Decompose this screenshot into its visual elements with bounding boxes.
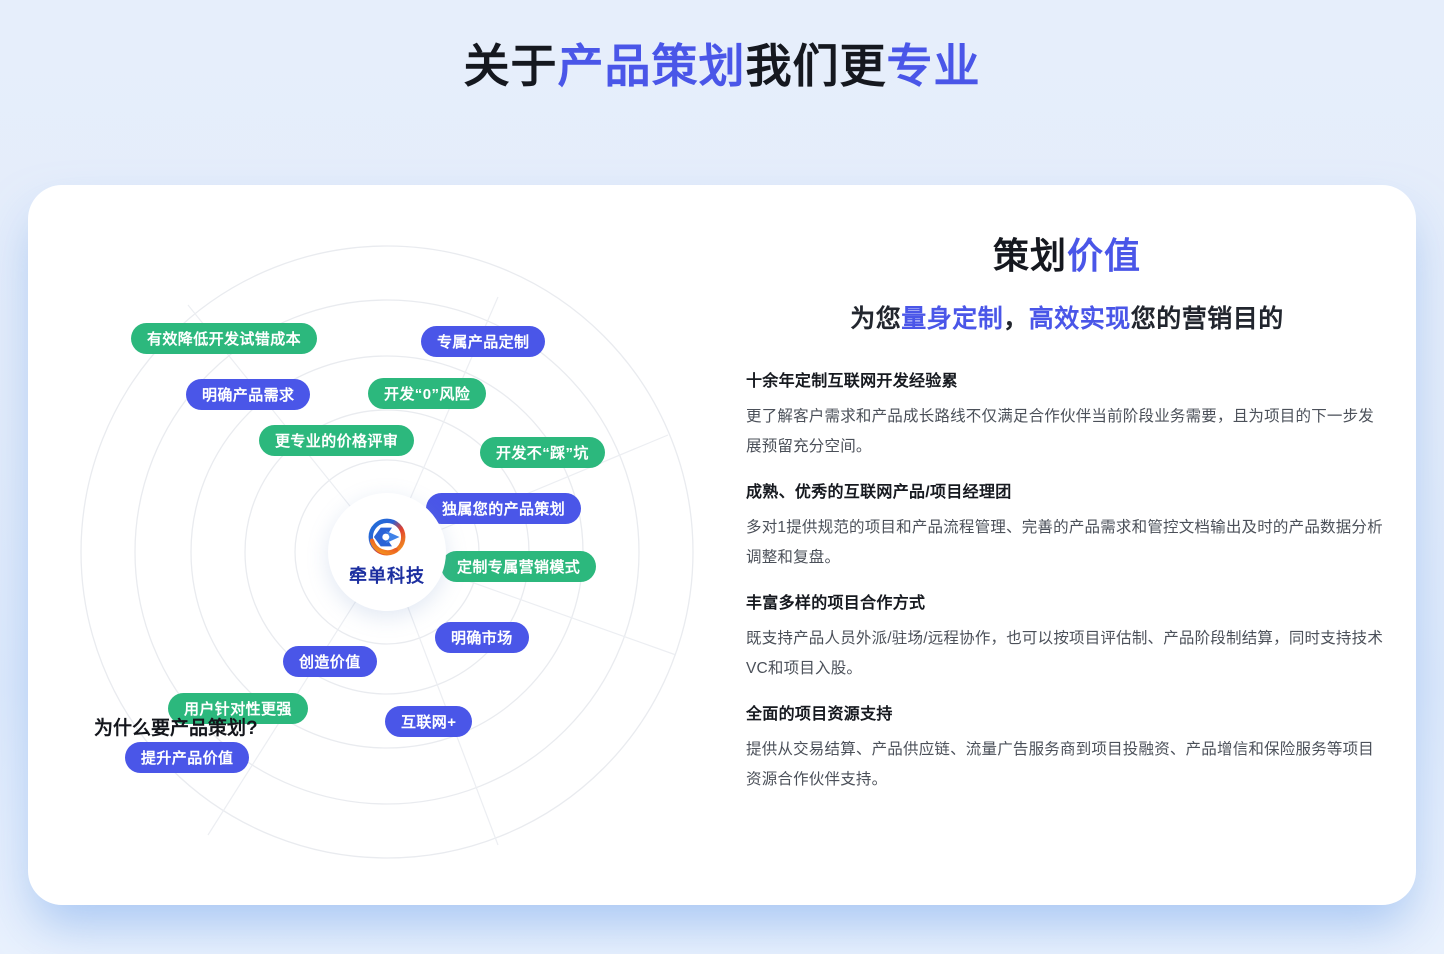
why-planning-label: 为什么要产品策划? — [94, 713, 258, 740]
diagram-tag[interactable]: 互联网+ — [385, 706, 472, 737]
planning-value-panel: 策划价值 为您量身定制，高效实现您的营销目的 十余年定制互联网开发经验累更了解客… — [718, 185, 1416, 905]
brand-hub: 牵单科技 — [328, 493, 446, 611]
value-title: 策划价值 — [746, 227, 1388, 279]
value-section-body: 既支持产品人员外派/驻场/远程协作，也可以按项目评估制、产品阶段制结算，同时支持… — [746, 624, 1388, 684]
diagram-tag[interactable]: 独属您的产品策划 — [426, 493, 581, 524]
value-section-heading: 丰富多样的项目合作方式 — [746, 593, 1388, 615]
radial-diagram: 为什么要产品策划? — [28, 185, 718, 905]
value-subtitle: 为您量身定制，高效实现您的营销目的 — [746, 299, 1388, 335]
page-title-part-3: 专业 — [887, 40, 981, 92]
value-title-part-0: 策划 — [993, 235, 1067, 276]
value-sections: 十余年定制互联网开发经验累更了解客户需求和产品成长路线不仅满足合作伙伴当前阶段业… — [746, 371, 1388, 795]
diagram-tag[interactable]: 定制专属营销模式 — [441, 551, 596, 582]
value-subtitle-part-4: 您的营销目的 — [1131, 305, 1284, 333]
diagram-tag[interactable]: 专属产品定制 — [421, 326, 545, 357]
content-card: 为什么要产品策划? — [28, 185, 1416, 905]
value-section-body: 更了解客户需求和产品成长路线不仅满足合作伙伴当前阶段业务需要，且为项目的下一步发… — [746, 402, 1388, 462]
value-subtitle-part-3: 高效实现 — [1029, 305, 1131, 333]
value-section-body: 多对1提供规范的项目和产品流程管理、完善的产品需求和管控文档输出及时的产品数据分… — [746, 513, 1388, 573]
diagram-tag[interactable]: 有效降低开发试错成本 — [131, 323, 317, 354]
diagram-tag[interactable]: 明确产品需求 — [186, 379, 310, 410]
value-subtitle-part-2: ， — [1003, 305, 1029, 333]
value-section-heading: 成熟、优秀的互联网产品/项目经理团 — [746, 482, 1388, 504]
value-section: 丰富多样的项目合作方式既支持产品人员外派/驻场/远程协作，也可以按项目评估制、产… — [746, 593, 1388, 684]
value-subtitle-part-1: 量身定制 — [901, 305, 1003, 333]
diagram-tag[interactable]: 开发不“踩”坑 — [480, 437, 605, 468]
value-subtitle-part-0: 为您 — [850, 305, 901, 333]
brand-name: 牵单科技 — [349, 562, 425, 588]
value-section: 全面的项目资源支持提供从交易结算、产品供应链、流量广告服务商到项目投融资、产品增… — [746, 704, 1388, 795]
diagram-tag[interactable]: 明确市场 — [435, 622, 529, 653]
value-section-heading: 十余年定制互联网开发经验累 — [746, 371, 1388, 393]
diagram-tag[interactable]: 开发“0”风险 — [368, 378, 486, 409]
page-title-part-0: 关于 — [464, 40, 558, 92]
value-section: 成熟、优秀的互联网产品/项目经理团多对1提供规范的项目和产品流程管理、完善的产品… — [746, 482, 1388, 573]
value-section-body: 提供从交易结算、产品供应链、流量广告服务商到项目投融资、产品增信和保险服务等项目… — [746, 735, 1388, 795]
page-title-part-1: 产品策划 — [558, 40, 746, 92]
value-section-heading: 全面的项目资源支持 — [746, 704, 1388, 726]
qiandan-swirl-logo-icon — [367, 517, 407, 557]
page-title-part-2: 我们更 — [746, 40, 887, 92]
page-title: 关于产品策划我们更专业 — [0, 38, 1444, 96]
value-section: 十余年定制互联网开发经验累更了解客户需求和产品成长路线不仅满足合作伙伴当前阶段业… — [746, 371, 1388, 462]
value-title-part-1: 价值 — [1067, 235, 1141, 276]
diagram-tag[interactable]: 创造价值 — [283, 646, 377, 677]
diagram-tag[interactable]: 提升产品价值 — [125, 742, 249, 773]
diagram-tag[interactable]: 更专业的价格评审 — [259, 425, 414, 456]
